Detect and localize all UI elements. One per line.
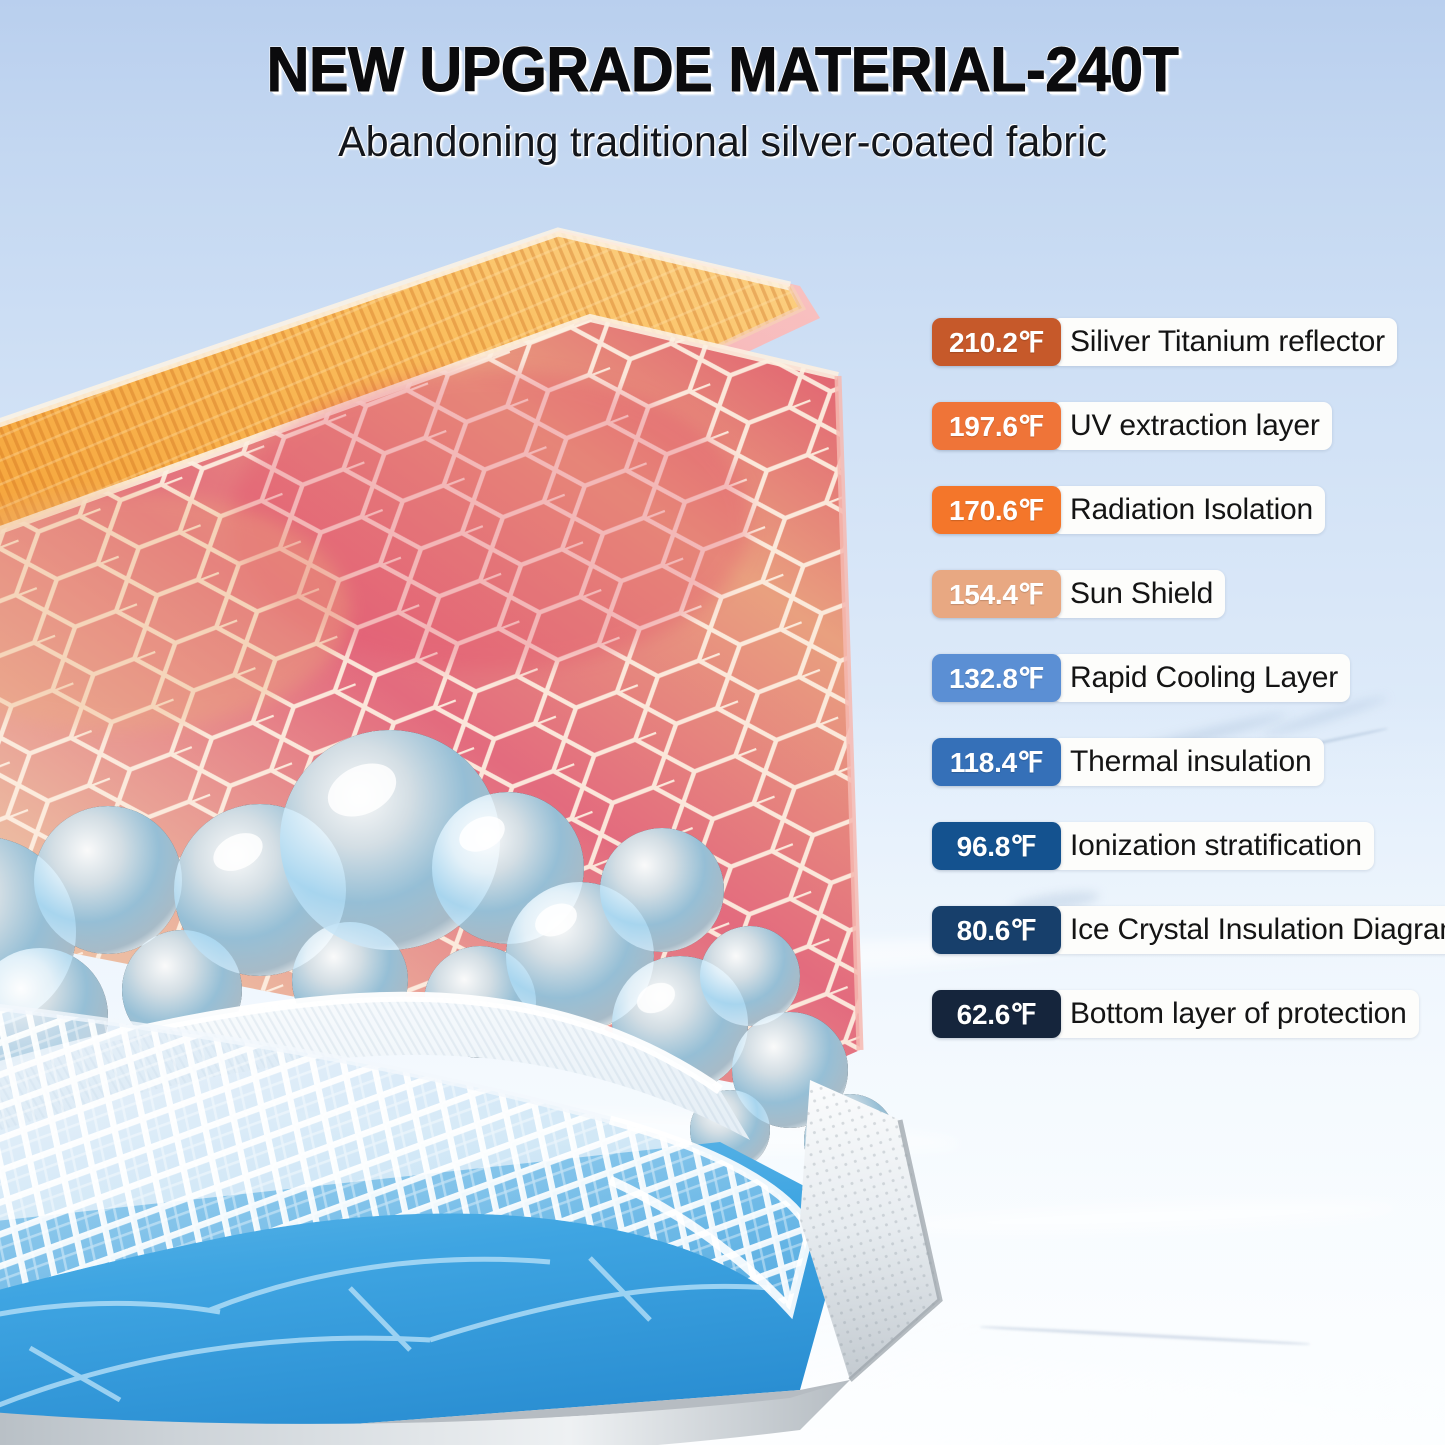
temperature-badge: 132.8℉: [932, 654, 1061, 702]
layer-name-label: Rapid Cooling Layer: [1052, 654, 1350, 702]
layer-name-label: Bottom layer of protection: [1052, 990, 1419, 1038]
temperature-badge: 118.4℉: [932, 738, 1061, 786]
temperature-badge: 154.4℉: [932, 570, 1061, 618]
list-item[interactable]: 62.6℉ Bottom layer of protection: [932, 990, 1437, 1038]
layer-name-label: Ionization stratification: [1052, 822, 1374, 870]
temperature-badge: 210.2℉: [932, 318, 1061, 366]
temperature-badge: 80.6℉: [932, 906, 1061, 954]
list-item[interactable]: 154.4℉ Sun Shield: [932, 570, 1437, 618]
layer-name-label: Radiation Isolation: [1052, 486, 1325, 534]
list-item[interactable]: 118.4℉ Thermal insulation: [932, 738, 1437, 786]
list-item[interactable]: 197.6℉ UV extraction layer: [932, 402, 1437, 450]
layer-name-label: UV extraction layer: [1052, 402, 1332, 450]
layer-name-label: Sun Shield: [1052, 570, 1225, 618]
layer-temperature-list: 210.2℉ Siliver Titanium reflector 197.6℉…: [932, 318, 1437, 1074]
list-item[interactable]: 80.6℉ Ice Crystal Insulation Diagram: [932, 906, 1437, 954]
header-block: NEW UPGRADE MATERIAL-240T Abandoning tra…: [0, 38, 1445, 167]
temperature-badge: 96.8℉: [932, 822, 1061, 870]
temperature-badge: 62.6℉: [932, 990, 1061, 1038]
list-item[interactable]: 132.8℉ Rapid Cooling Layer: [932, 654, 1437, 702]
list-item[interactable]: 170.6℉ Radiation Isolation: [932, 486, 1437, 534]
list-item[interactable]: 210.2℉ Siliver Titanium reflector: [932, 318, 1437, 366]
layered-fabric-illustration: [0, 190, 1010, 1445]
temperature-badge: 170.6℉: [932, 486, 1061, 534]
layer-name-label: Thermal insulation: [1052, 738, 1324, 786]
page-subtitle: Abandoning traditional silver-coated fab…: [29, 118, 1416, 167]
layer-name-label: Ice Crystal Insulation Diagram: [1052, 906, 1445, 954]
layer-name-label: Siliver Titanium reflector: [1052, 318, 1397, 366]
infographic-canvas: NEW UPGRADE MATERIAL-240T Abandoning tra…: [0, 0, 1445, 1445]
page-title: NEW UPGRADE MATERIAL-240T: [43, 38, 1401, 104]
list-item[interactable]: 96.8℉ Ionization stratification: [932, 822, 1437, 870]
temperature-badge: 197.6℉: [932, 402, 1061, 450]
